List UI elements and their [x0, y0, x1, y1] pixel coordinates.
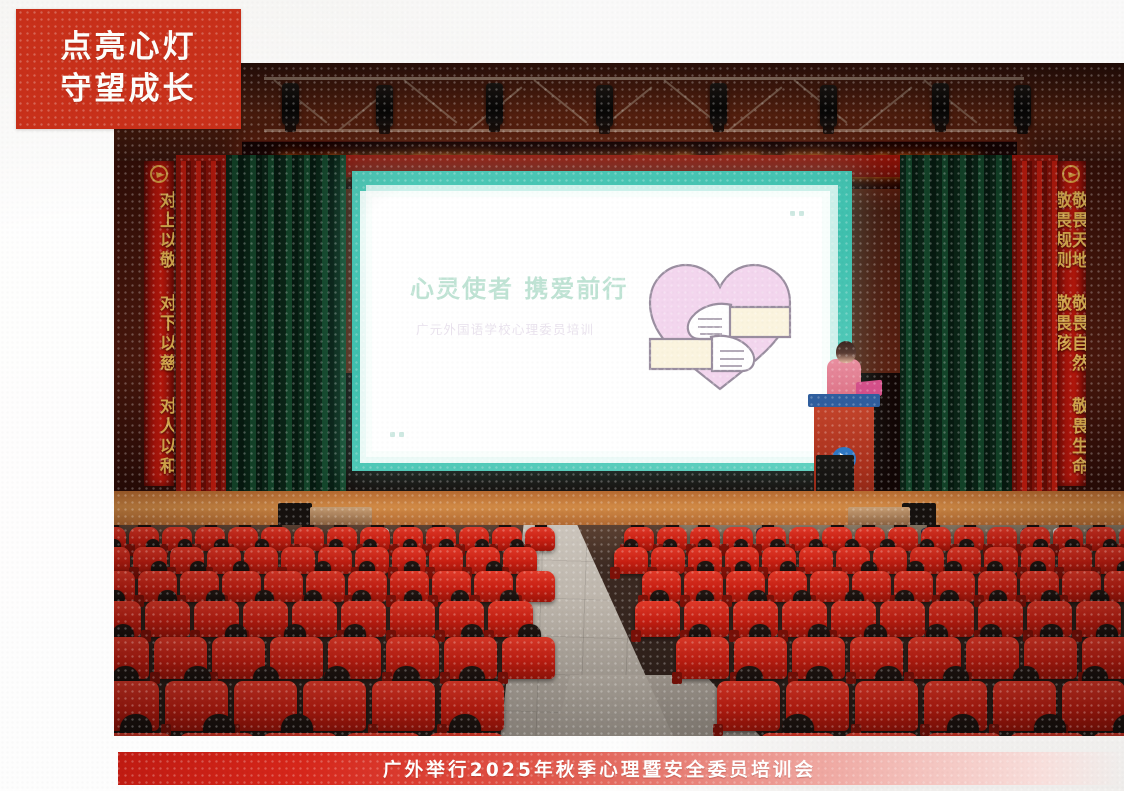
- auditorium-seat: [429, 547, 463, 574]
- title-badge-line1: 点亮心灯: [61, 27, 197, 69]
- auditorium-seat: [114, 733, 172, 736]
- auditorium-seat: [1092, 733, 1124, 736]
- auditorium-seat: [810, 571, 849, 602]
- auditorium-seat: [345, 733, 421, 736]
- auditorium-seat: [926, 733, 1002, 736]
- auditorium-seat: [281, 547, 315, 574]
- seat-armrest: [672, 672, 682, 684]
- auditorium-seat: [428, 733, 504, 736]
- projection-screen: 心灵使者 携爱前行 广元外国语学校心理委员培训: [352, 171, 852, 471]
- stage-spotlight-icon: [486, 83, 503, 125]
- auditorium-seat: [502, 637, 555, 679]
- stage-spotlight-icon: [820, 85, 837, 127]
- speaker-head: [836, 341, 856, 363]
- seat-armrest: [846, 672, 856, 684]
- seat-armrest: [631, 630, 641, 642]
- stage-spotlight-icon: [932, 83, 949, 125]
- auditorium-seat: [880, 601, 925, 637]
- auditorium-seat: [516, 571, 555, 602]
- auditorium-seat: [390, 601, 435, 637]
- auditorium-seat: [1058, 547, 1092, 574]
- vertical-banner-left-text: 对上以敬 对下以慈 对人以和: [144, 191, 174, 477]
- stage-spotlight-icon: [710, 83, 727, 125]
- stage-spotlight-icon: [282, 83, 299, 125]
- vertical-banner-left: 对上以敬 对下以慈 对人以和: [144, 161, 174, 486]
- title-badge-line2: 守望成长: [61, 69, 197, 111]
- vertical-banner-right-text: 敬畏天地 敬畏自然 敬畏生命 敬畏规则 敬畏孩: [1056, 191, 1086, 486]
- auditorium-seat: [1009, 733, 1085, 736]
- poster-page: 四川省广元外国语学校2025-2026学年第一学期心理暨安全委员培训会 对上以敬…: [0, 0, 1124, 791]
- slide-title: 心灵使者 携爱前行: [410, 269, 628, 304]
- auditorium-seat: [179, 733, 255, 736]
- auditorium-seat: [855, 681, 918, 731]
- auditorium-seat: [843, 733, 919, 736]
- stage-spotlight-icon: [1014, 85, 1031, 127]
- presentation-slide: 心灵使者 携爱前行 广元外国语学校心理委员培训: [372, 197, 822, 451]
- auditorium-seat: [372, 681, 435, 731]
- auditorium-seat: [145, 601, 190, 637]
- stage-spotlight-icon: [596, 85, 613, 127]
- heart-hands-icon: [640, 241, 800, 401]
- auditorium-seat: [244, 547, 278, 574]
- curtain-green-right: [900, 155, 1012, 503]
- auditorium-seat: [651, 547, 685, 574]
- auditorium-seat: [614, 547, 648, 574]
- stage-spotlight-icon: [376, 85, 393, 127]
- auditorium-seat: [760, 733, 836, 736]
- curtain-green-left: [226, 155, 346, 503]
- school-logo-icon: [150, 165, 168, 183]
- auditorium-seat: [717, 681, 780, 731]
- auditorium-seat: [262, 733, 338, 736]
- title-badge: 点亮心灯 守望成长: [16, 9, 241, 129]
- curtain-red-left: [176, 161, 228, 501]
- slide-decor-dots-top: [790, 211, 804, 216]
- auditorium-seat: [635, 601, 680, 637]
- slide-decor-dots-bottom: [390, 432, 404, 437]
- vertical-banner-right: 敬畏天地 敬畏自然 敬畏生命 敬畏规则 敬畏孩: [1056, 161, 1086, 486]
- school-logo-icon: [1062, 165, 1080, 183]
- auditorium-seat: [676, 637, 729, 679]
- auditorium-seat: [303, 681, 366, 731]
- caption-bar: 广外举行2025年秋季心理暨安全委员培训会: [118, 752, 1124, 785]
- auditorium-seat: [873, 547, 907, 574]
- audience-area: [114, 525, 1124, 736]
- seat-armrest: [713, 724, 723, 736]
- auditorium-seat: [243, 601, 288, 637]
- auditorium-seat: [114, 547, 130, 574]
- auditorium-seat: [966, 637, 1019, 679]
- event-photo: 四川省广元外国语学校2025-2026学年第一学期心理暨安全委员培训会 对上以敬…: [114, 63, 1124, 736]
- podium-nameplate: [808, 394, 880, 407]
- auditorium-seat: [799, 547, 833, 574]
- caption-text: 广外举行2025年秋季心理暨安全委员培训会: [383, 756, 816, 782]
- auditorium-seat: [503, 547, 537, 574]
- slide-subtitle: 广元外国语学校心理委员培训: [416, 319, 594, 338]
- seat-armrest: [610, 567, 620, 579]
